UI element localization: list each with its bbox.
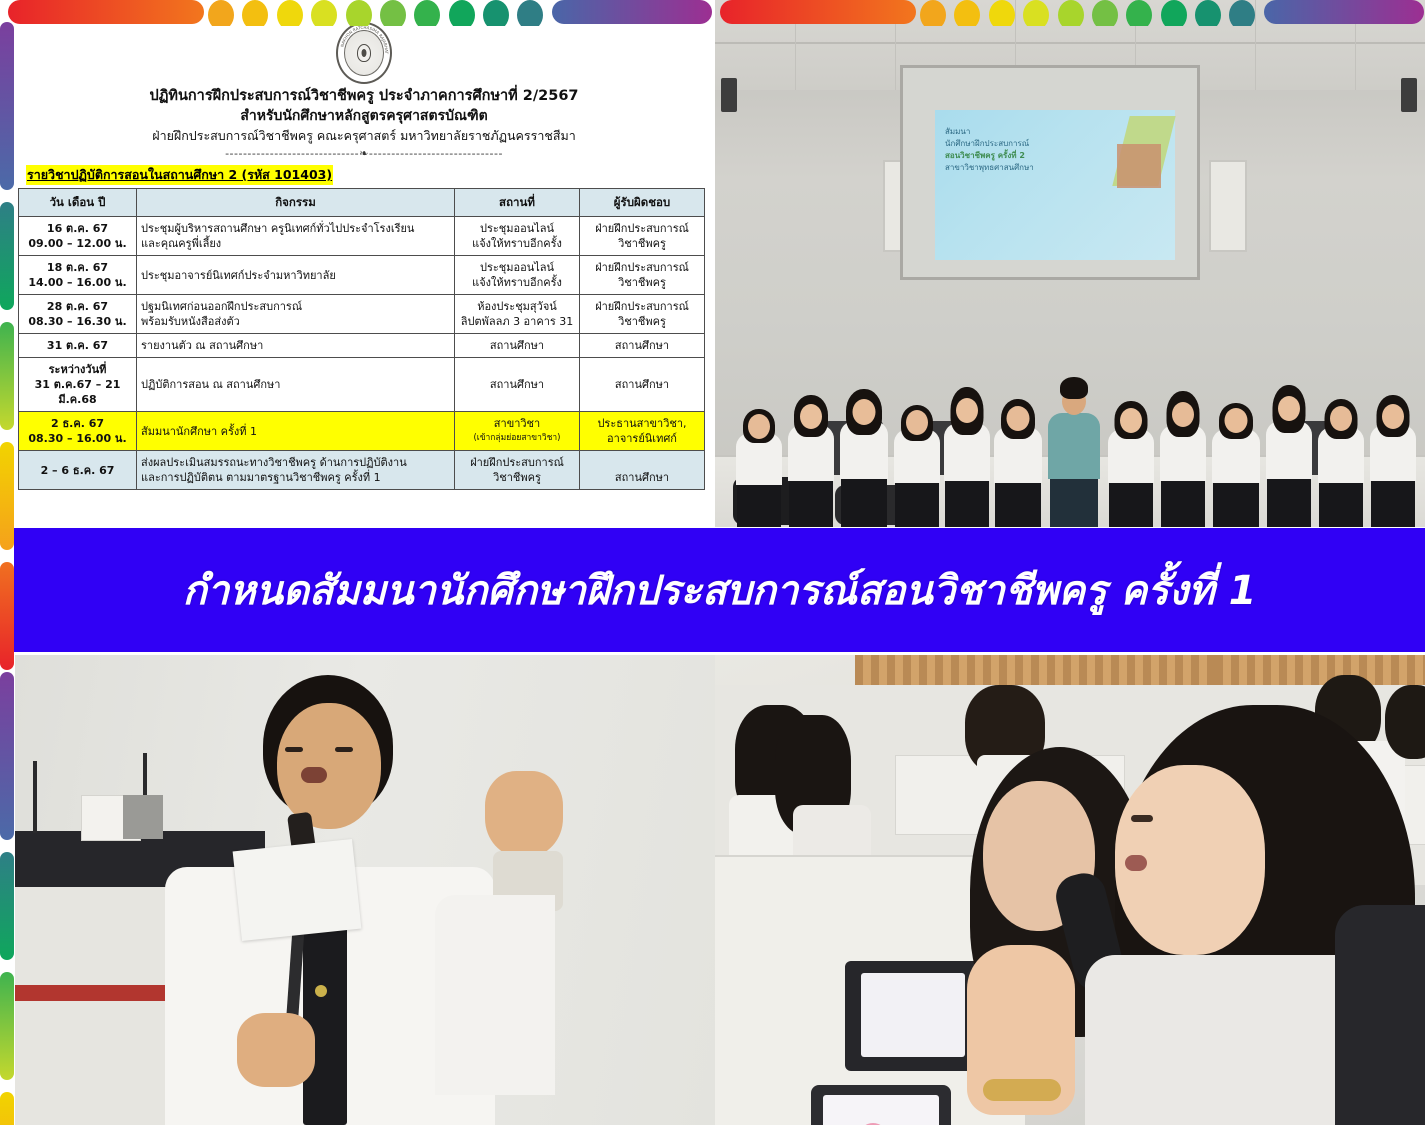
male-student-presenting-photo (15, 655, 715, 1125)
calendar-table: วัน เดือน ปี กิจกรรม สถานที่ ผู้รับผิดชอ… (18, 188, 705, 490)
banner-title-text: กำหนดสัมมนานักศึกษาฝึกประสบการณ์สอนวิชาช… (14, 558, 1425, 622)
slide-text: สัมมนา นักศึกษาฝึกประสบการณ์ สอนวิชาชีพค… (945, 126, 1034, 174)
person (1211, 403, 1261, 527)
course-heading: รายวิชาปฏิบัติการสอนในสถานศึกษา 2 (รหัส … (26, 165, 333, 185)
person (839, 389, 889, 527)
document-subtitle-2: ฝ่ายฝึกประสบการณ์วิชาชีพครู คณะครุศาสตร์… (22, 126, 706, 146)
university-seal-icon: NAKHON RATCHASIMA RAJABHAT UNIVERSITY (336, 22, 392, 84)
person-teacher-suit (1047, 377, 1101, 527)
table-row-highlighted: 2 ธ.ค. 6708.30 – 16.00 น. สัมมนานักศึกษา… (19, 412, 705, 451)
ornament-divider: ------------------------------❧---------… (22, 147, 706, 160)
column-header-date: วัน เดือน ปี (19, 189, 137, 217)
column-header-resp: ผู้รับผิดชอบ (580, 189, 705, 217)
presentation-slide: สัมมนา นักศึกษาฝึกประสบการณ์ สอนวิชาชีพค… (935, 110, 1175, 260)
person (735, 409, 783, 527)
person (1369, 395, 1417, 527)
person (1317, 399, 1365, 527)
person (1107, 401, 1155, 527)
projector-screen: สัมมนา นักศึกษาฝึกประสบการณ์ สอนวิชาชีพค… (900, 65, 1200, 280)
person (993, 399, 1043, 527)
table-row: 28 ต.ค. 6708.30 – 16.30 น. ปฐมนิเทศก่อนอ… (19, 295, 705, 334)
column-header-place: สถานที่ (455, 189, 580, 217)
rainbow-top-border (0, 0, 1425, 26)
document-subtitle-1: สำหรับนักศึกษาหลักสูตรครุศาสตรบัณฑิต (22, 106, 706, 126)
table-header-row: วัน เดือน ปี กิจกรรม สถานที่ ผู้รับผิดชอ… (19, 189, 705, 217)
female-students-microphone-photo (715, 655, 1425, 1125)
table-row: 16 ต.ค. 6709.00 – 12.00 น. ประชุมผู้บริห… (19, 217, 705, 256)
table-row: 2 – 6 ธ.ค. 67 ส่งผลประเมินสมรรถนะทางวิชา… (19, 451, 705, 490)
rainbow-left-border (0, 0, 15, 1125)
person (1159, 391, 1207, 527)
person (943, 387, 991, 527)
calendar-document: NAKHON RATCHASIMA RAJABHAT UNIVERSITY ปฏ… (14, 14, 714, 530)
table-row: 18 ต.ค. 6714.00 – 16.00 น. ประชุมอาจารย์… (19, 256, 705, 295)
column-header-activity: กิจกรรม (137, 189, 455, 217)
group-photo-seminar-room: สัมมนา นักศึกษาฝึกประสบการณ์ สอนวิชาชีพค… (715, 0, 1425, 527)
table-row: 31 ต.ค. 67 รายงานตัว ณ สถานศึกษา สถานศึก… (19, 334, 705, 358)
table-row: ระหว่างวันที่31 ต.ค.67 – 21 มี.ค.68 ปฏิบ… (19, 358, 705, 412)
person (787, 395, 835, 527)
person (893, 405, 941, 527)
poster-canvas: สัมมนา นักศึกษาฝึกประสบการณ์ สอนวิชาชีพค… (0, 0, 1425, 1125)
title-banner: กำหนดสัมมนานักศึกษาฝึกประสบการณ์สอนวิชาช… (14, 528, 1425, 652)
document-title: ปฏิทินการฝึกประสบการณ์วิชาชีพครู ประจำภา… (22, 86, 706, 106)
person (1265, 385, 1313, 527)
